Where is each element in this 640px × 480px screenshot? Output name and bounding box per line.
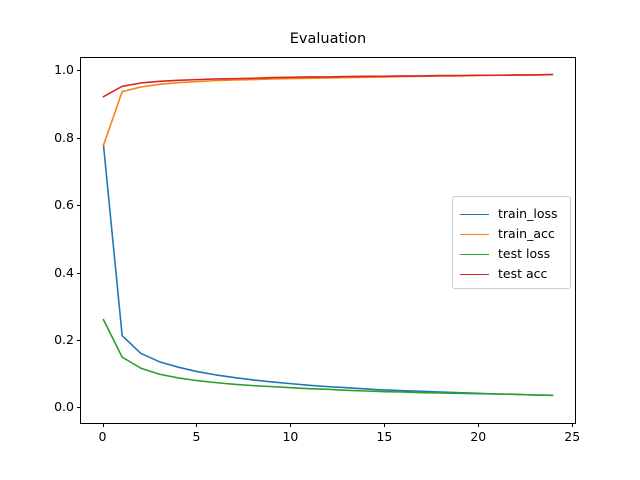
- series-line: [103, 75, 552, 146]
- legend-color-swatch: [460, 234, 489, 235]
- x-tick-label: 15: [359, 431, 409, 443]
- x-tick-mark: [290, 424, 291, 428]
- legend-item-label: train_acc: [498, 227, 555, 241]
- y-tick-label: 1.0: [34, 64, 74, 76]
- legend-item[interactable]: test loss: [453, 244, 570, 264]
- legend-item[interactable]: test acc: [453, 264, 570, 284]
- legend-color-swatch: [460, 254, 489, 255]
- legend-item-label: test acc: [498, 267, 547, 281]
- y-tick-label: 0.0: [34, 401, 74, 413]
- legend-color-swatch: [460, 214, 489, 215]
- y-tick-label: 0.2: [34, 334, 74, 346]
- x-tick-mark: [572, 424, 573, 428]
- legend-item-label: train_loss: [498, 207, 558, 221]
- x-axis-tick-marks: [80, 424, 576, 428]
- x-tick-mark: [103, 424, 104, 428]
- y-axis-tick-labels: 0.00.20.40.60.81.0: [32, 57, 74, 424]
- series-line: [103, 320, 552, 396]
- legend-item[interactable]: train_acc: [453, 224, 570, 244]
- x-tick-label: 10: [265, 431, 315, 443]
- x-tick-label: 25: [547, 431, 597, 443]
- legend-item-label: test loss: [498, 247, 550, 261]
- chart-title: Evaluation: [80, 30, 576, 48]
- legend-box[interactable]: train_losstrain_acctest losstest acc: [452, 196, 571, 289]
- x-tick-mark: [384, 424, 385, 428]
- x-tick-mark: [478, 424, 479, 428]
- figure-canvas: Evaluation 0.00.20.40.60.81.0 0510152025…: [0, 0, 640, 480]
- legend-color-swatch: [460, 274, 489, 275]
- x-tick-label: 0: [78, 431, 128, 443]
- y-tick-label: 0.8: [34, 132, 74, 144]
- y-tick-label: 0.4: [34, 267, 74, 279]
- legend-item[interactable]: train_loss: [453, 204, 570, 224]
- x-tick-label: 20: [453, 431, 503, 443]
- x-tick-label: 5: [171, 431, 221, 443]
- x-tick-mark: [196, 424, 197, 428]
- y-tick-label: 0.6: [34, 199, 74, 211]
- x-axis-tick-labels: 0510152025: [80, 431, 576, 451]
